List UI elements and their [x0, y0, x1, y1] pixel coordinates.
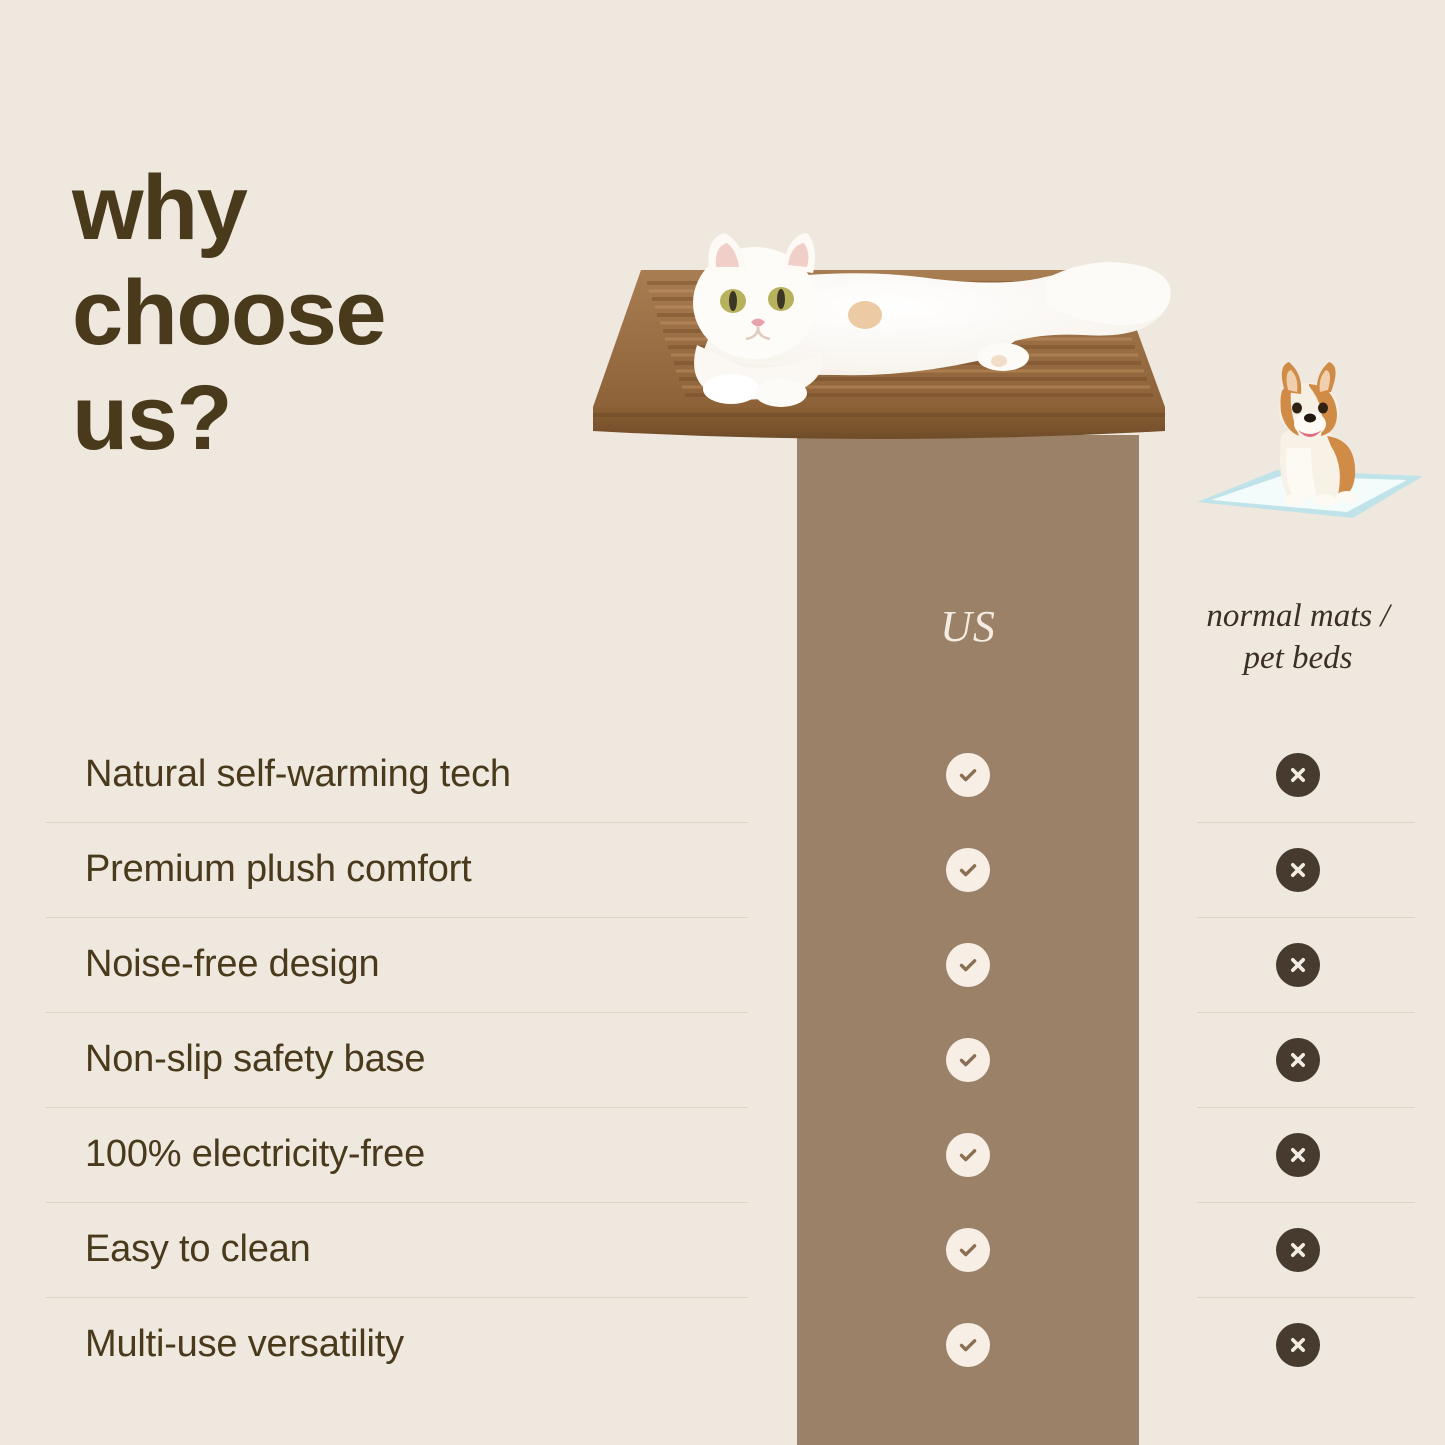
competitor-cell: [1148, 1107, 1445, 1202]
competitor-cell: [1148, 727, 1445, 822]
close-icon: [1276, 1228, 1320, 1272]
table-row-5: 100% electricity-free: [0, 1107, 1445, 1202]
competitor-cell: [1148, 1297, 1445, 1392]
page-title-line-1: why: [72, 156, 592, 261]
close-icon: [1276, 848, 1320, 892]
check-icon: [946, 943, 990, 987]
page-title-line-3: us?: [72, 366, 592, 471]
table-row-2: Premium plush comfort: [0, 822, 1445, 917]
close-icon: [1276, 943, 1320, 987]
row-divider-right: [1197, 917, 1415, 918]
page-title: why choose us?: [72, 156, 592, 471]
us-cell: [797, 727, 1139, 822]
feature-label: Noise-free design: [85, 917, 379, 1012]
close-icon: [1276, 1133, 1320, 1177]
us-cell: [797, 1297, 1139, 1392]
check-icon: [946, 1323, 990, 1367]
close-icon: [1276, 1038, 1320, 1082]
feature-label: Multi-use versatility: [85, 1297, 404, 1392]
us-cell: [797, 1012, 1139, 1107]
table-row-6: Easy to clean: [0, 1202, 1445, 1297]
table-row-4: Non-slip safety base: [0, 1012, 1445, 1107]
comparison-product-image: [1185, 352, 1435, 542]
column-header-us: US: [797, 601, 1139, 652]
competitor-cell: [1148, 1202, 1445, 1297]
column-header-competitor-line-1: normal mats /: [1148, 596, 1445, 638]
close-icon: [1276, 753, 1320, 797]
row-divider-right: [1197, 822, 1415, 823]
feature-label: Non-slip safety base: [85, 1012, 425, 1107]
column-header-competitor: normal mats / pet beds: [1148, 596, 1445, 679]
table-row-7: Multi-use versatility: [0, 1297, 1445, 1392]
close-icon: [1276, 1323, 1320, 1367]
check-icon: [946, 1228, 990, 1272]
comparison-infographic: why choose us? US normal mats / pet beds…: [0, 0, 1445, 1445]
check-icon: [946, 1038, 990, 1082]
row-divider-right: [1197, 1012, 1415, 1013]
competitor-cell: [1148, 1012, 1445, 1107]
page-title-line-2: choose: [72, 261, 592, 366]
table-row-1: Natural self-warming tech: [0, 727, 1445, 822]
row-divider-right: [1197, 1107, 1415, 1108]
check-icon: [946, 1133, 990, 1177]
check-icon: [946, 753, 990, 797]
feature-label: Premium plush comfort: [85, 822, 471, 917]
hero-product-image: [575, 175, 1180, 455]
feature-label: Easy to clean: [85, 1202, 311, 1297]
feature-comparison-table: Natural self-warming tech Premium plush …: [0, 727, 1445, 1392]
table-row-3: Noise-free design: [0, 917, 1445, 1012]
us-cell: [797, 1202, 1139, 1297]
competitor-cell: [1148, 917, 1445, 1012]
row-divider-right: [1197, 1202, 1415, 1203]
us-cell: [797, 822, 1139, 917]
column-header-competitor-line-2: pet beds: [1148, 638, 1445, 680]
feature-label: Natural self-warming tech: [85, 727, 511, 822]
feature-label: 100% electricity-free: [85, 1107, 425, 1202]
row-divider-right: [1197, 1297, 1415, 1298]
us-cell: [797, 1107, 1139, 1202]
competitor-cell: [1148, 822, 1445, 917]
us-cell: [797, 917, 1139, 1012]
check-icon: [946, 848, 990, 892]
